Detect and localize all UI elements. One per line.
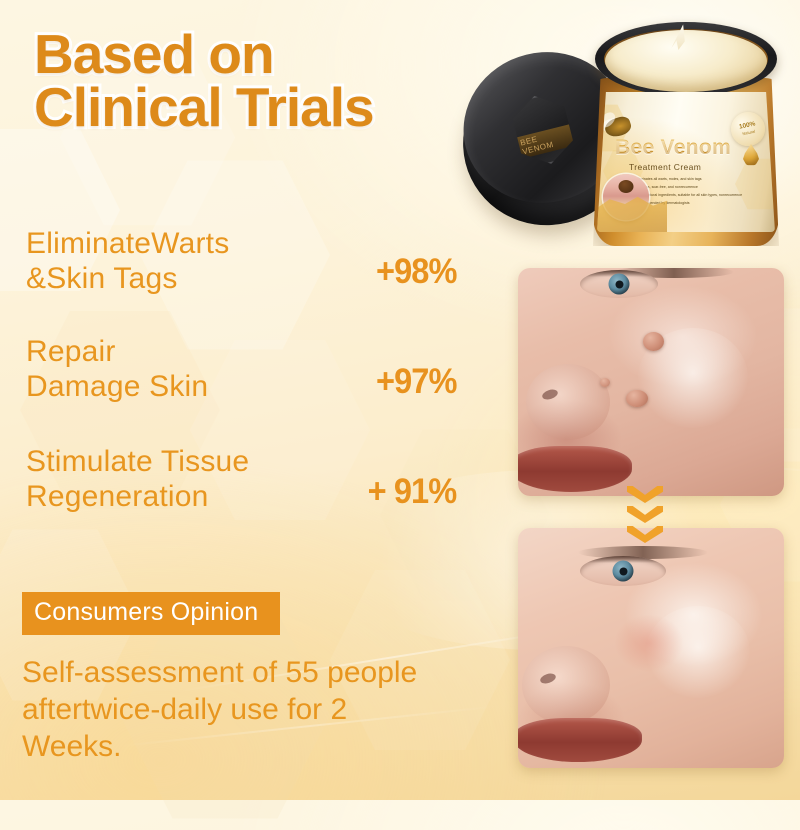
product-label: 100% Natural Bee Venom Treatment Cream ✓…	[597, 92, 775, 232]
chevron-down-icon	[627, 486, 663, 503]
iris	[613, 561, 634, 582]
stat-row: EliminateWarts &Skin Tags +98%	[26, 224, 456, 296]
before-photo	[518, 268, 784, 496]
transition-arrows	[627, 486, 663, 543]
list-item: ✓ Eliminates all warts, moles, and skin …	[629, 177, 747, 182]
after-photo	[518, 528, 784, 768]
stat-value: +97%	[376, 362, 456, 404]
clinical-results-list: EliminateWarts &Skin Tags +98% Repair Da…	[26, 224, 456, 550]
stat-label: Repair Damage Skin	[26, 334, 208, 404]
product-jar-image: BEE VENOM 100% Natural Bee Venom Treatme…	[455, 18, 800, 258]
stat-value: + 91%	[367, 472, 456, 514]
bee-emblem-icon: BEE VENOM	[504, 88, 581, 171]
cheek-blush	[614, 614, 684, 672]
jar-body: 100% Natural Bee Venom Treatment Cream ✓…	[583, 26, 788, 254]
eye	[580, 556, 666, 586]
list-item-label: 100% natural ingredients, suitable for a…	[636, 193, 742, 198]
status-badge: Consumers Opinion	[22, 592, 280, 635]
product-subtitle: Treatment Cream	[629, 162, 701, 172]
chevron-down-icon	[627, 506, 663, 523]
wart-growth	[643, 332, 664, 351]
list-item-label: Eliminates all warts, moles, and skin ta…	[636, 177, 702, 182]
consumer-note: Self-assessment of 55 people aftertwice-…	[22, 655, 462, 766]
stat-value: +98%	[376, 252, 456, 296]
lips	[518, 718, 642, 762]
eye	[580, 270, 658, 298]
wart-growth	[600, 378, 610, 387]
product-brand-name: Bee Venom	[615, 136, 747, 160]
stat-row: Repair Damage Skin +97%	[26, 332, 456, 404]
stat-label: EliminateWarts &Skin Tags	[26, 226, 229, 296]
stat-label: Stimulate Tissue Regeneration	[26, 444, 249, 514]
badge-caption: Natural	[742, 128, 756, 136]
stat-row: Stimulate Tissue Regeneration + 91%	[26, 442, 456, 514]
lid-emblem-label: BEE VENOM	[513, 123, 578, 159]
headline-line-2: Clinical Trials	[34, 81, 374, 134]
chevron-down-icon	[627, 526, 663, 543]
nose	[526, 364, 610, 440]
nose	[522, 646, 610, 724]
page-title: Based on Clinical Trials	[34, 28, 374, 135]
iris	[609, 274, 630, 295]
cream-content	[605, 30, 767, 92]
wart-growth	[626, 390, 648, 407]
